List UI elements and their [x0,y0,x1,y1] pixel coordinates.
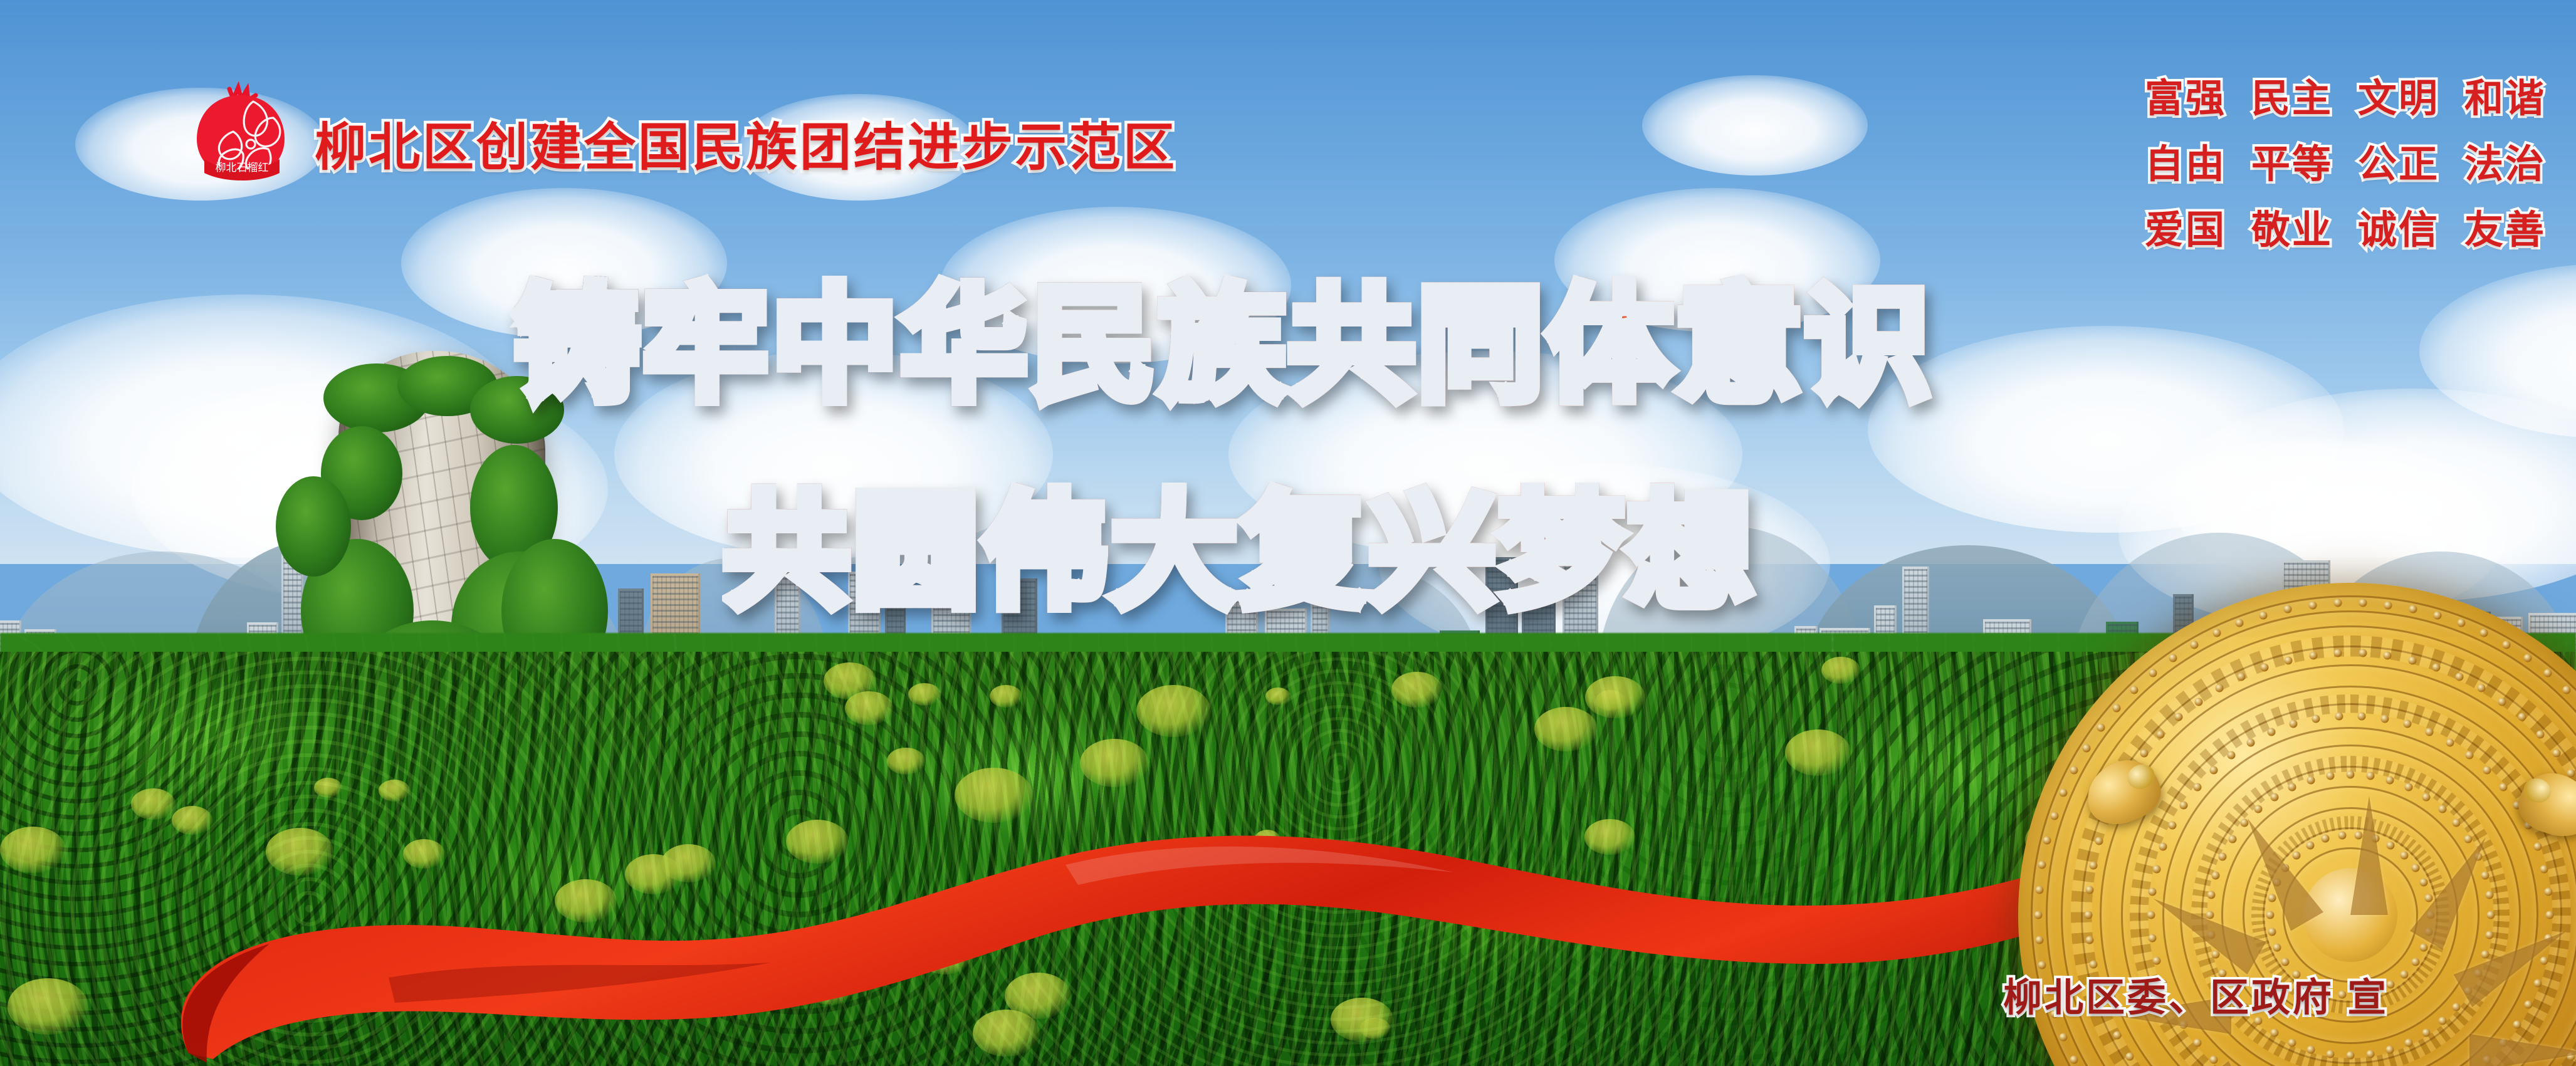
core-value-item: 爱国 [2145,198,2226,254]
core-value-item: 民主 [2251,66,2333,123]
logo-graphic: 柳北石榴红 [186,79,296,184]
logo-ribbon-text: 柳北石榴红 [216,162,269,174]
canopy-tuft [845,691,893,725]
vegetation-blob [276,476,351,577]
core-value-item: 文明 [2358,66,2439,123]
canopy-tuft [824,662,876,699]
canopy-tuft [379,780,410,802]
canopy-tuft [314,778,342,798]
canopy-tuft [625,854,682,894]
canopy-tuft [786,820,849,864]
page-title: 柳北区创建全国民族团结进步示范区 [315,105,1177,180]
headline-line-2-text: 共圆伟大复兴梦想 [724,483,1757,622]
canopy-tuft [920,939,971,975]
canopy-tuft [555,879,617,922]
canopy-tuft [1785,729,1851,776]
canopy-tuft [1331,998,1393,1042]
core-value-item: 敬业 [2251,198,2333,254]
canopy-tuft [1265,687,1291,705]
core-socialist-values: 富强 民主 文明 和谐 自由 平等 公正 法治 爱国 敬业 诚信 友善 [2145,66,2546,254]
canopy-tuft [1141,865,1167,883]
propaganda-banner: 柳北石榴红 柳北区创建全国民族团结进步示范区 富强 民主 文明 和谐 自由 平等… [0,0,2576,1066]
canopy-tuft [1136,685,1211,737]
canopy-tuft [8,978,88,1035]
canopy-tuft [266,828,333,875]
canopy-tuft [661,844,716,882]
core-values-row: 富强 民主 文明 和谐 [2145,66,2546,123]
headline-line-1-text: 铸牢中华民族共同体意识 [514,276,1934,415]
headline-line-1: 铸牢中华民族共同体意识 [514,283,1934,409]
core-value-item: 友善 [2464,198,2546,254]
canopy-tuft [1255,830,1280,847]
headline-line-2: 共圆伟大复兴梦想 [724,490,1757,615]
canopy-tuft [804,969,855,1005]
core-value-item: 和谐 [2464,66,2546,123]
canopy-tuft [1596,690,1625,711]
core-value-item: 富强 [2145,66,2226,123]
core-value-item: 诚信 [2358,198,2439,254]
canopy-tuft [1821,657,1860,684]
canopy-tuft [1360,1018,1390,1039]
core-value-item: 自由 [2145,132,2226,189]
canopy-tuft [887,748,925,775]
canopy-tuft [172,806,212,835]
canopy-tuft [1358,856,1417,897]
canopy-tuft [0,827,66,873]
canopy-tuft [1584,819,1635,855]
canopy-tuft [1585,676,1645,718]
canopy-tuft [1534,707,1598,751]
canopy-tuft [908,683,941,706]
attribution-text: 柳北区委、区政府 宣 [2003,966,2389,1022]
canopy-tuft [955,768,1033,823]
canopy-tuft [1005,973,1071,1019]
core-value-item: 平等 [2251,132,2333,189]
canopy-tuft [131,788,175,820]
canopy-tuft [1391,672,1442,708]
canopy-tuft [647,955,686,982]
canopy-tuft [1080,739,1149,787]
core-values-row: 自由 平等 公正 法治 [2145,132,2546,189]
core-value-item: 公正 [2358,132,2439,189]
canopy-tuft [990,685,1022,708]
core-values-row: 爱国 敬业 诚信 友善 [2145,198,2546,254]
canopy-tuft [1433,872,1465,894]
canopy-tuft [403,839,445,869]
canopy-tuft [973,1010,1040,1057]
liubei-pomegranate-logo[interactable]: 柳北石榴红 [186,79,296,184]
core-value-item: 法治 [2464,132,2546,189]
